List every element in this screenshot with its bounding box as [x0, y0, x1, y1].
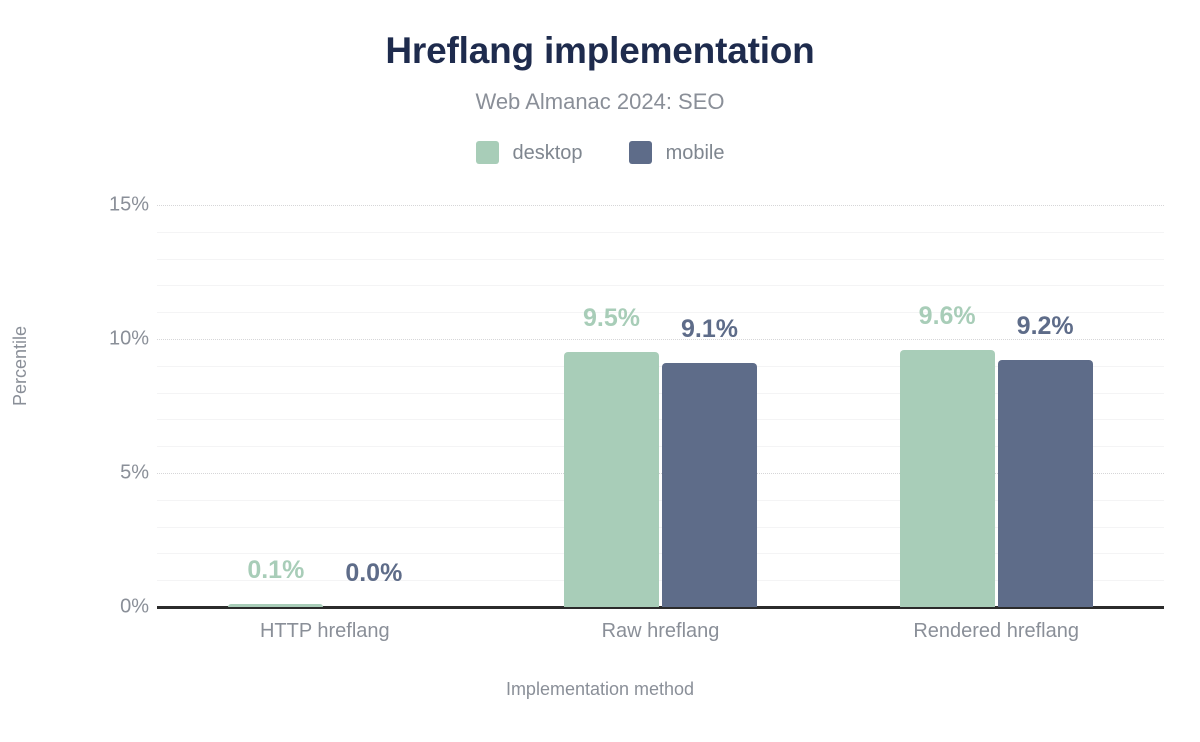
bar-value-label: 9.1%	[681, 315, 738, 344]
y-tick-label: 15%	[29, 194, 149, 217]
bar-mobile-1[interactable]	[662, 363, 757, 607]
legend-label: mobile	[666, 143, 725, 163]
gridline-major	[157, 205, 1164, 206]
x-axis-label: Implementation method	[0, 679, 1200, 700]
legend-item-mobile[interactable]: mobile	[629, 141, 725, 164]
legend-swatch-icon	[476, 141, 499, 164]
bar-value-label: 9.6%	[919, 302, 976, 331]
y-tick-label: 5%	[29, 462, 149, 485]
chart-legend: desktopmobile	[0, 141, 1200, 164]
legend-item-desktop[interactable]: desktop	[476, 141, 583, 164]
chart-subtitle: Web Almanac 2024: SEO	[0, 89, 1200, 115]
bar-value-label: 9.2%	[1017, 312, 1074, 341]
bar-desktop-2[interactable]	[900, 350, 995, 607]
bar-mobile-2[interactable]	[998, 360, 1093, 607]
chart-title: Hreflang implementation	[0, 30, 1200, 72]
gridline-minor	[157, 232, 1164, 233]
x-tick-label: Raw hreflang	[602, 620, 720, 643]
x-tick-label: HTTP hreflang	[260, 620, 390, 643]
y-tick-label: 10%	[29, 328, 149, 351]
bar-value-label: 0.1%	[247, 556, 304, 585]
gridline-major	[157, 339, 1164, 340]
bar-value-label: 9.5%	[583, 304, 640, 333]
gridline-minor	[157, 259, 1164, 260]
gridline-minor	[157, 285, 1164, 286]
bar-desktop-1[interactable]	[564, 352, 659, 607]
y-axis-label: Percentile	[10, 326, 31, 406]
gridline-minor	[157, 312, 1164, 313]
bar-value-label: 0.0%	[345, 559, 402, 588]
y-tick-label: 0%	[29, 596, 149, 619]
x-tick-label: Rendered hreflang	[913, 620, 1079, 643]
legend-label: desktop	[513, 143, 583, 163]
bar-desktop-0[interactable]	[228, 604, 323, 607]
chart-figure: Hreflang implementation Web Almanac 2024…	[0, 0, 1200, 742]
legend-swatch-icon	[629, 141, 652, 164]
